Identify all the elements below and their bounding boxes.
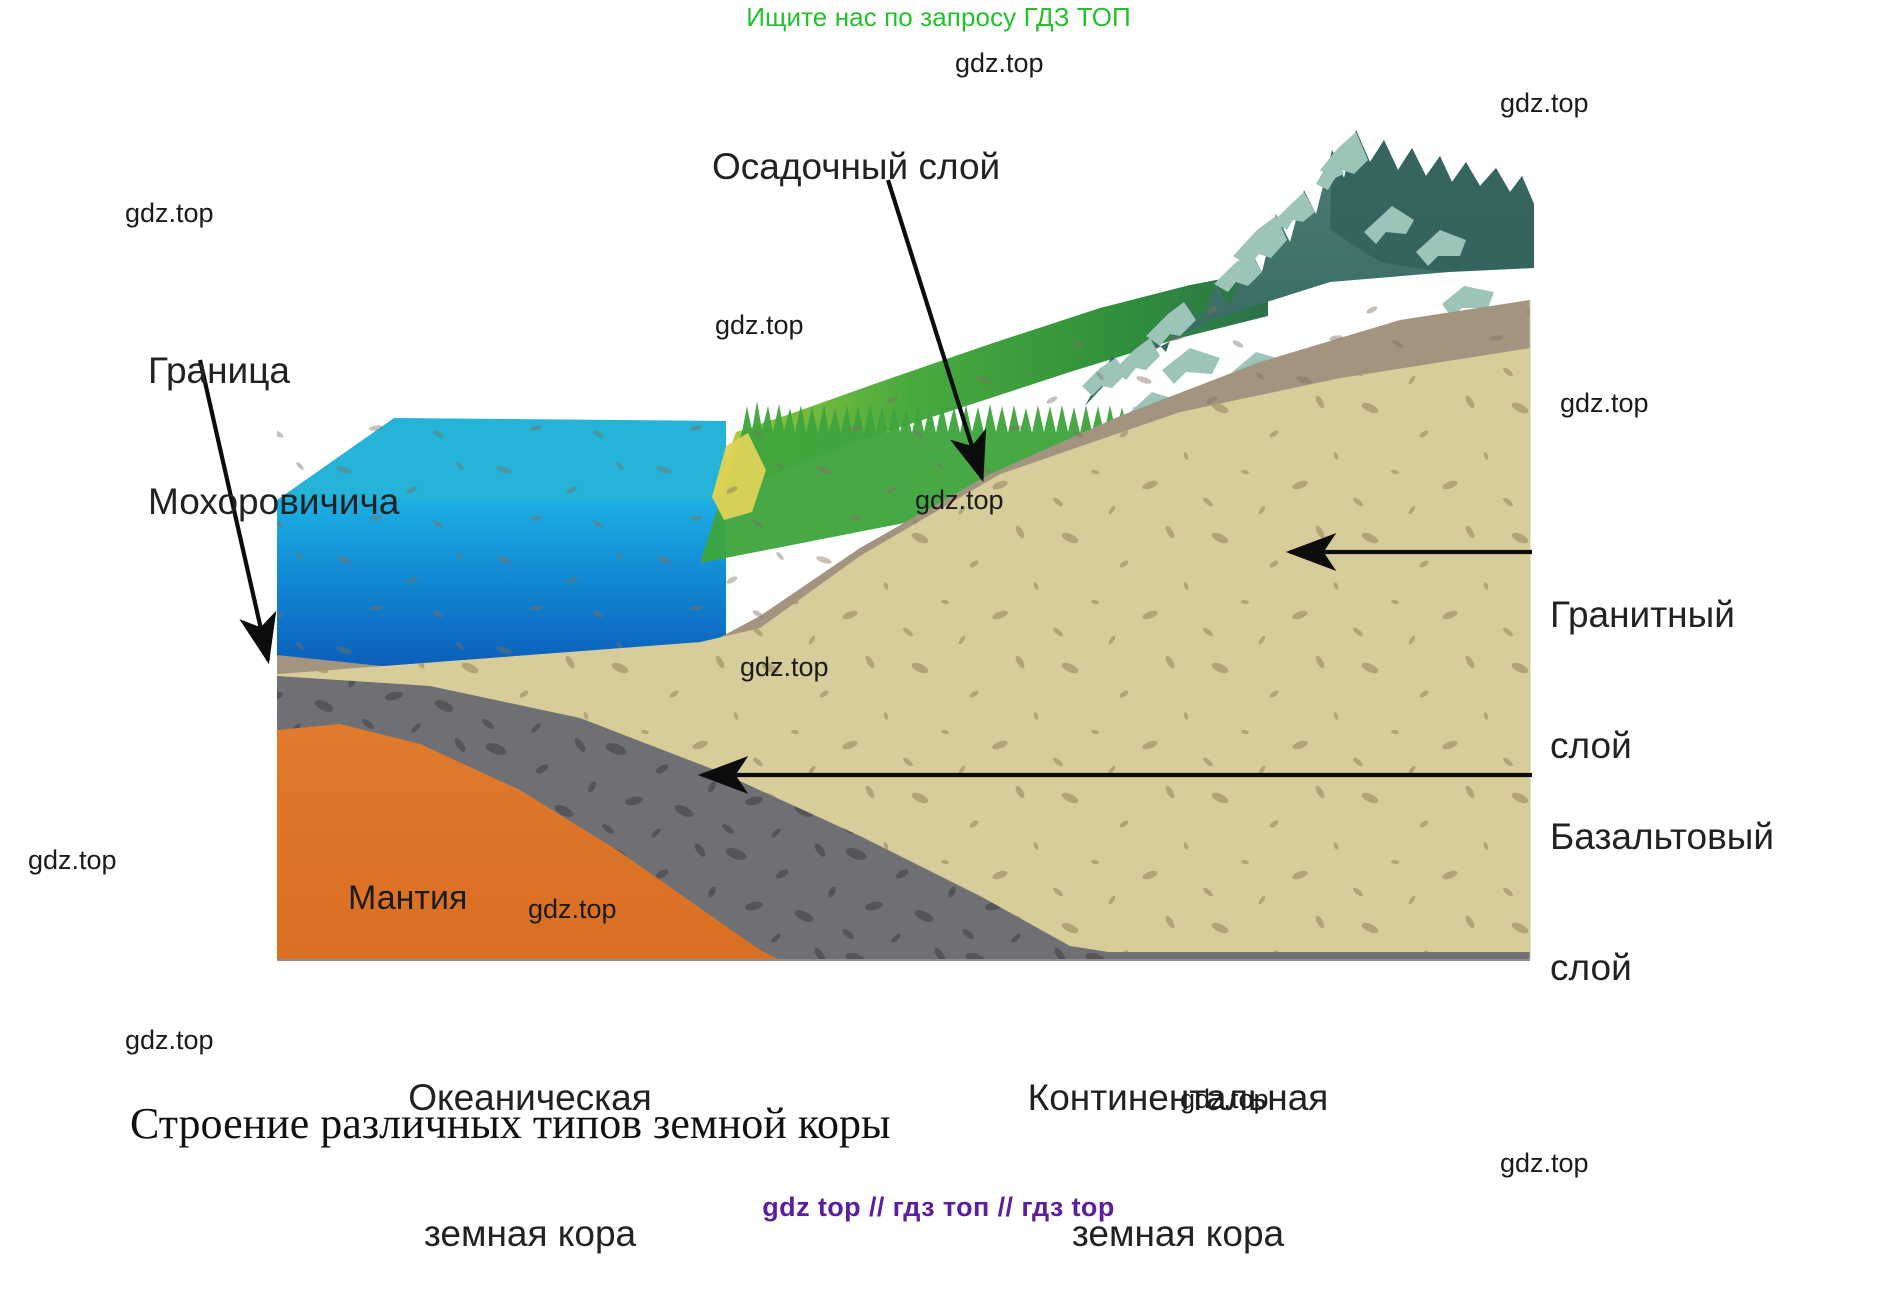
label-mantle: Мантия xyxy=(348,878,467,918)
label-sedimentary-layer: Осадочный слой xyxy=(712,145,1000,189)
label-granite-line1: Гранитный xyxy=(1550,593,1735,637)
earth-block xyxy=(277,300,1530,960)
label-moho-line1: Граница xyxy=(148,349,399,393)
diagram-title-caption: Строение различных типов земной коры xyxy=(130,1098,1150,1149)
label-basalt-line2: слой xyxy=(1550,946,1774,990)
label-basaltic-layer: Базальтовый слой xyxy=(1550,728,1774,1034)
footer-promo-text: gdz top // гдз топ // гдз top xyxy=(0,1192,1877,1223)
label-basalt-line1: Базальтовый xyxy=(1550,815,1774,859)
label-moho-boundary: Граница Мохоровичича xyxy=(148,262,399,568)
label-moho-line2: Мохоровичича xyxy=(148,480,399,524)
